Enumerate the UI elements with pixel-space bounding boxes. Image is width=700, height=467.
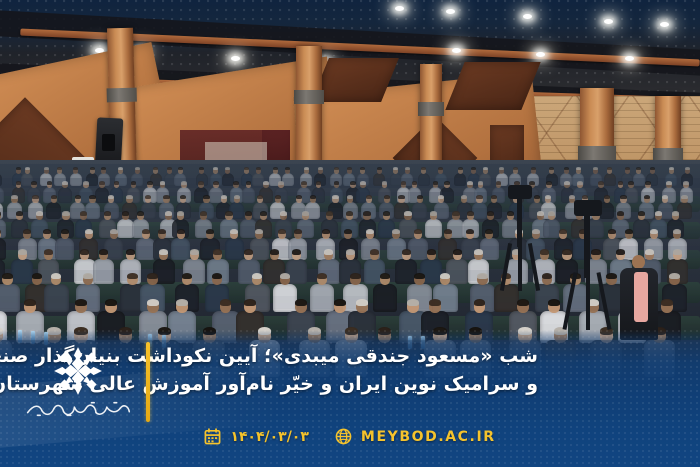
audience-person-hair [244, 249, 253, 255]
audience-person-hair [137, 211, 144, 215]
audience-person-hair [347, 195, 353, 199]
audience-person [373, 284, 398, 313]
audience-person-hair [398, 195, 404, 199]
audience-person-hair [604, 195, 610, 199]
ceiling-light [446, 9, 455, 14]
audience-person-hair [256, 167, 261, 170]
audience-person-hair [212, 273, 222, 279]
audience-person-hair [83, 273, 93, 279]
column-band [294, 90, 324, 104]
audience-person-hair [474, 249, 483, 255]
audience-person-hair [2, 273, 12, 279]
audience-person-hair [417, 195, 423, 199]
audience-person-hair [270, 249, 279, 255]
audience-person-hair [529, 181, 535, 184]
audience-person-hair [433, 181, 439, 184]
audience-person [222, 173, 234, 187]
audience-person-hair [366, 195, 372, 199]
audience-person-hair [334, 181, 340, 184]
audience-person-hair [213, 249, 222, 255]
audience-person-hair [467, 181, 473, 184]
audience-person-hair [491, 195, 497, 199]
meybod-university-star-emblem [52, 345, 104, 397]
audience-person-hair [577, 181, 583, 184]
audience-person [454, 173, 466, 187]
audience-person-hair [672, 211, 679, 215]
university-pr-logo [18, 340, 138, 424]
audience-person-hair [23, 229, 31, 234]
audience-person-hair [114, 181, 120, 184]
audience-person-hair [487, 211, 494, 215]
audience-person-hair [478, 181, 484, 184]
audience-person-hair [546, 181, 552, 184]
audience-person [310, 284, 335, 313]
calendar-icon [204, 428, 221, 445]
date-item: ۱۴۰۴/۰۳/۰۳ [204, 428, 309, 445]
audience-person-hair [44, 249, 53, 255]
audience-person-hair [466, 229, 474, 234]
audience-person-hair [414, 273, 424, 279]
audience-person-hair [513, 167, 518, 170]
audience-person-hair [322, 229, 330, 234]
audience-person-hair [159, 249, 168, 255]
audience-person-hair [438, 195, 444, 199]
audience-person-hair [11, 195, 17, 199]
audience-person-hair [545, 195, 551, 199]
audience-person-hair [51, 195, 57, 199]
audience-person-hair [404, 211, 411, 215]
audience-person-hair [548, 211, 555, 215]
audience-person-hair [616, 249, 625, 255]
ceiling-light [231, 56, 240, 61]
audience-person-hair [0, 229, 1, 234]
audience-person-hair [230, 229, 238, 234]
audience-person-hair [564, 167, 569, 170]
audience-person-hair [16, 211, 23, 215]
audience-person-hair [569, 195, 575, 199]
audience-person-hair [405, 167, 410, 170]
audience-person [408, 238, 427, 260]
audience-person-hair [104, 211, 111, 215]
audience-person-hair [177, 211, 184, 215]
audience-person-hair [681, 195, 687, 199]
audience-person-hair [32, 195, 38, 199]
audience-person [171, 238, 190, 260]
audience-person-hair [160, 181, 166, 184]
audience-person [633, 173, 645, 187]
audience-person-hair [310, 195, 316, 199]
audience-person-hair [80, 249, 89, 255]
audience-person-hair [51, 273, 61, 279]
audience-person-hair [142, 229, 150, 234]
audience-person-hair [669, 273, 679, 279]
camera-tripod [560, 212, 616, 330]
audience-person [11, 259, 33, 284]
audience-person-hair [245, 211, 252, 215]
audience-person [604, 173, 616, 187]
audience-person-hair [346, 249, 355, 255]
audience-person-hair [127, 273, 137, 279]
website-url: MEYBOD.AC.IR [361, 429, 496, 445]
audience-person-hair [625, 167, 630, 170]
audience-person-hair [427, 249, 436, 255]
gold-divider [146, 342, 150, 422]
audience-person-hair [62, 181, 68, 184]
audience-person-hair [617, 211, 624, 215]
audience-person-hair [180, 195, 186, 199]
audience-person-hair [176, 299, 188, 306]
audience-person-hair [531, 167, 536, 170]
audience-person-hair [620, 195, 626, 199]
audience-person-hair [203, 195, 209, 199]
audience-person-hair [246, 181, 252, 184]
audience-person-hair [110, 229, 118, 234]
audience-person-hair [326, 211, 333, 215]
audience-person-hair [31, 181, 37, 184]
caption-banner: شب «مسعود جندقی میبدی»؛ آیین نکوداشت بنی… [0, 330, 700, 467]
audience-person-hair [280, 273, 290, 279]
ceiling-light [625, 56, 634, 61]
audience-person-hair [452, 211, 459, 215]
audience-person-hair [496, 181, 502, 184]
audience-person-hair [32, 273, 42, 279]
audience-person [425, 219, 442, 239]
audience-person-hair [476, 195, 482, 199]
audience-person-hair [318, 167, 323, 170]
audience-person-hair [467, 211, 474, 215]
audience-person-hair [363, 211, 370, 215]
audience-person-hair [366, 229, 374, 234]
audience-person-hair [62, 211, 69, 215]
audience-person-hair [628, 181, 634, 184]
audience-person [44, 284, 69, 313]
audience-person-hair [350, 181, 356, 184]
column-band [418, 102, 444, 116]
audience-person-hair [47, 181, 53, 184]
audience-person-hair [147, 273, 157, 279]
audience-person-hair [36, 211, 43, 215]
audience-person-hair [90, 167, 95, 170]
audience-person-hair [177, 229, 185, 234]
audience-person-hair [126, 195, 132, 199]
audience-person-hair [401, 181, 407, 184]
audience-person-hair [662, 195, 668, 199]
ceiling-light [660, 22, 669, 27]
audience-person-hair [324, 249, 333, 255]
event-banner-image: شب «مسعود جندقی میبدی»؛ آیین نکوداشت بنی… [0, 0, 700, 467]
audience-person [242, 187, 256, 203]
audience-person [677, 202, 692, 219]
audience-person-hair [61, 229, 69, 234]
audience-person-hair [334, 167, 339, 170]
audience-person-hair [75, 299, 87, 306]
audience-person-hair [685, 167, 690, 170]
audience-person-hair [582, 195, 588, 199]
audience-person-hair [233, 181, 239, 184]
event-date: ۱۴۰۴/۰۳/۰۳ [230, 429, 309, 445]
audience-person-hair [517, 299, 529, 306]
audience-person [95, 187, 109, 203]
audience-person-hair [576, 167, 581, 170]
audience-person-hair [263, 181, 269, 184]
audience-person-hair [16, 181, 22, 184]
audience-person-hair [392, 229, 400, 234]
audience-person-hair [273, 167, 278, 170]
audience-person-hair [182, 273, 192, 279]
audience-person [93, 259, 115, 284]
audience-person-hair [350, 273, 360, 279]
audience-person-hair [344, 229, 352, 234]
audience-person [58, 187, 72, 203]
audience-person-hair [75, 195, 81, 199]
audience-person [55, 238, 74, 260]
audience-person [273, 284, 298, 313]
audience-person-hair [453, 249, 462, 255]
audience-person [472, 202, 487, 219]
audience-person-hair [625, 229, 633, 234]
audience-person [390, 173, 402, 187]
audience-person-hair [44, 167, 49, 170]
ceiling-light [523, 14, 532, 19]
audience-person-hair [278, 229, 286, 234]
audience-person-hair [669, 167, 674, 170]
audience-person-hair [382, 181, 388, 184]
audience-person-hair [252, 273, 262, 279]
ceiling-light [604, 19, 613, 24]
audience-person-hair [24, 299, 36, 306]
audience-person-hair [200, 211, 207, 215]
audience-person-hair [317, 273, 327, 279]
audience-person-hair [220, 299, 232, 306]
audience-person-hair [206, 229, 214, 234]
audience-person-hair [18, 249, 27, 255]
audience-person-hair [25, 167, 30, 170]
audience-person [633, 219, 650, 239]
audience-person-hair [474, 299, 486, 306]
loudspeaker-driver [102, 134, 115, 151]
audience-person-hair [213, 181, 219, 184]
audience-person-hair [650, 167, 655, 170]
audience-person-hair [99, 249, 108, 255]
audience-person-hair [356, 299, 368, 306]
audience-person-hair [673, 229, 681, 234]
column-band [107, 88, 137, 103]
audience-person-hair [83, 181, 89, 184]
audience-person-hair [383, 211, 390, 215]
audience-person-hair [126, 249, 135, 255]
audience-person-hair [407, 299, 419, 306]
audience-person-hair [280, 211, 287, 215]
audience-person-hair [257, 195, 263, 199]
website-item[interactable]: MEYBOD.AC.IR [335, 428, 496, 445]
audience-person [0, 284, 20, 313]
audience-person-hair [80, 211, 87, 215]
audience-person-hair [402, 249, 411, 255]
audience-person [85, 202, 100, 219]
ceiling-light [536, 52, 545, 57]
audience-person-hair [89, 195, 95, 199]
audience-person-hair [458, 167, 463, 170]
audience-person-hair [644, 195, 650, 199]
audience-person-hair [384, 195, 390, 199]
audience-person-hair [244, 299, 256, 306]
standing-person-shirt [634, 272, 648, 322]
audience-person [70, 173, 82, 187]
audience-person-hair [645, 249, 654, 255]
audience-person-hair [429, 299, 441, 306]
audience-person [543, 219, 560, 239]
audience-person-hair [650, 229, 658, 234]
audience-person [418, 173, 430, 187]
banner-meta-row: ۱۴۰۴/۰۳/۰۳ MEYBOD.AC.IR [0, 428, 700, 445]
audience-person [412, 202, 427, 219]
audience-person-hair [131, 181, 137, 184]
audience-person-hair [666, 181, 672, 184]
audience-person-hair [99, 181, 105, 184]
audience-person-hair [255, 229, 263, 234]
audience-person-hair [198, 181, 204, 184]
audience-person-hair [655, 211, 662, 215]
audience-person-hair [645, 181, 651, 184]
audience-person-hair [85, 229, 93, 234]
audience-person-hair [158, 229, 166, 234]
audience-person-hair [135, 167, 140, 170]
camera-tripod [498, 195, 542, 291]
audience-person-hair [618, 181, 624, 184]
audience-person [46, 202, 61, 219]
audience-person-hair [163, 195, 169, 199]
audience-person-hair [638, 211, 645, 215]
audience-person-hair [477, 273, 487, 279]
ceiling-light [395, 6, 404, 11]
logo-caption-script [24, 399, 132, 419]
audience-person-hair [542, 273, 552, 279]
audience-person-hair [377, 167, 382, 170]
audience-person-hair [360, 181, 366, 184]
audience-person-hair [683, 181, 689, 184]
audience-person-hair [178, 167, 183, 170]
audience-person-hair [292, 249, 301, 255]
audience-person-hair [122, 211, 129, 215]
audience-person-hair [334, 299, 346, 306]
audience-person-hair [485, 229, 493, 234]
audience-person-hair [440, 273, 450, 279]
audience-person-hair [221, 195, 227, 199]
audience-person-hair [332, 195, 338, 199]
audience-person [225, 238, 244, 260]
audience-person-hair [412, 181, 418, 184]
audience-person-hair [145, 195, 151, 199]
audience-person-hair [370, 249, 379, 255]
audience-person-hair [147, 181, 153, 184]
audience-person-hair [225, 211, 232, 215]
audience-person-hair [661, 299, 673, 306]
ceiling-light [452, 48, 461, 53]
standing-person-head [632, 255, 645, 269]
audience-person-hair [43, 229, 51, 234]
audience-person-hair [275, 195, 281, 199]
audience-person-hair [296, 195, 302, 199]
audience-person-hair [302, 211, 309, 215]
audience-person-hair [181, 181, 187, 184]
audience-person-hair [444, 181, 450, 184]
globe-icon [335, 428, 352, 445]
audience-person-hair [380, 273, 390, 279]
audience-person-hair [295, 299, 307, 306]
audience-person-hair [414, 229, 422, 234]
audience-person-hair [598, 181, 604, 184]
audience-person-hair [260, 211, 267, 215]
audience-person-hair [673, 249, 682, 255]
audience-person-hair [165, 211, 172, 215]
audience-person-hair [105, 299, 117, 306]
audience-person-hair [147, 299, 159, 306]
audience-person-hair [301, 181, 307, 184]
audience-person-hair [108, 195, 114, 199]
audience-person-hair [430, 211, 437, 215]
audience-person-hair [548, 299, 560, 306]
audience-person-hair [461, 195, 467, 199]
audience-person-hair [234, 195, 240, 199]
audience-person-hair [444, 229, 452, 234]
audience-person-hair [316, 181, 322, 184]
audience-person-hair [346, 211, 353, 215]
audience-person-hair [564, 181, 570, 184]
audience-person-hair [294, 229, 302, 234]
audience-person-hair [190, 249, 199, 255]
audience-person-hair [278, 181, 284, 184]
